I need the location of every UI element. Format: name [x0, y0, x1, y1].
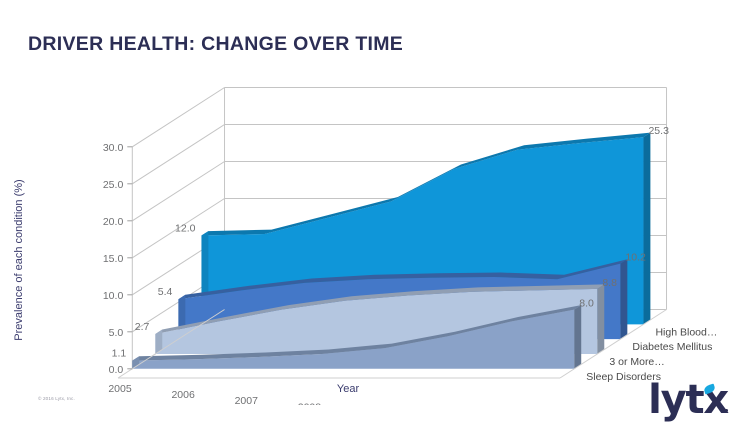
y-axis-tick-label: 5.0: [109, 327, 124, 339]
series-axis-label: High Blood…: [655, 326, 717, 338]
y-axis-tick-label: 25.0: [103, 179, 124, 191]
copyright-notice: © 2016 Lytx, Inc.: [38, 396, 75, 401]
data-label-start: 2.7: [135, 321, 150, 333]
chart-3d-stacked-area: 0.05.010.015.020.025.030.0 2005200620072…: [0, 60, 750, 405]
slide-canvas: DRIVER HEALTH: CHANGE OVER TIME 0.05.010…: [0, 0, 750, 440]
stacked-area-ribbons: [132, 133, 650, 369]
data-label-start: 5.4: [158, 286, 173, 298]
series-axis-label: 3 or More…: [609, 356, 664, 368]
data-label-end: 25.3: [648, 125, 669, 137]
y-axis-title: Prevalence of each condition (%): [13, 179, 25, 340]
y-axis-tick-label: 30.0: [103, 142, 124, 154]
x-axis-title: Year: [337, 383, 360, 395]
y-axis-tick-label: 15.0: [103, 253, 124, 265]
y-axis-tick-label: 20.0: [103, 216, 124, 228]
logo-dot-icon: [725, 409, 729, 413]
data-label-end: 8.8: [602, 277, 617, 289]
x-axis-tick-label: 2007: [235, 395, 259, 405]
data-label-start: 12.0: [175, 223, 196, 235]
x-axis-tick-label: 2005: [108, 383, 132, 395]
logo-wordmark: lytx: [648, 378, 728, 422]
x-axis-tick-label: 2008: [298, 401, 322, 405]
data-label-end: 10.2: [625, 252, 646, 264]
series-axis-label: Diabetes Mellitus: [632, 341, 712, 353]
data-label-end: 8.0: [579, 298, 594, 310]
y-axis: 0.05.010.015.020.025.030.0: [103, 142, 132, 376]
y-axis-tick-label: 0.0: [109, 364, 124, 376]
lytx-logo: lytx: [648, 378, 728, 422]
page-title: DRIVER HEALTH: CHANGE OVER TIME: [28, 33, 403, 56]
y-axis-tick-label: 10.0: [103, 290, 124, 302]
chart-svg: 0.05.010.015.020.025.030.0 2005200620072…: [0, 60, 750, 405]
data-label-start: 1.1: [112, 348, 127, 360]
x-axis-tick-label: 2006: [171, 389, 195, 401]
